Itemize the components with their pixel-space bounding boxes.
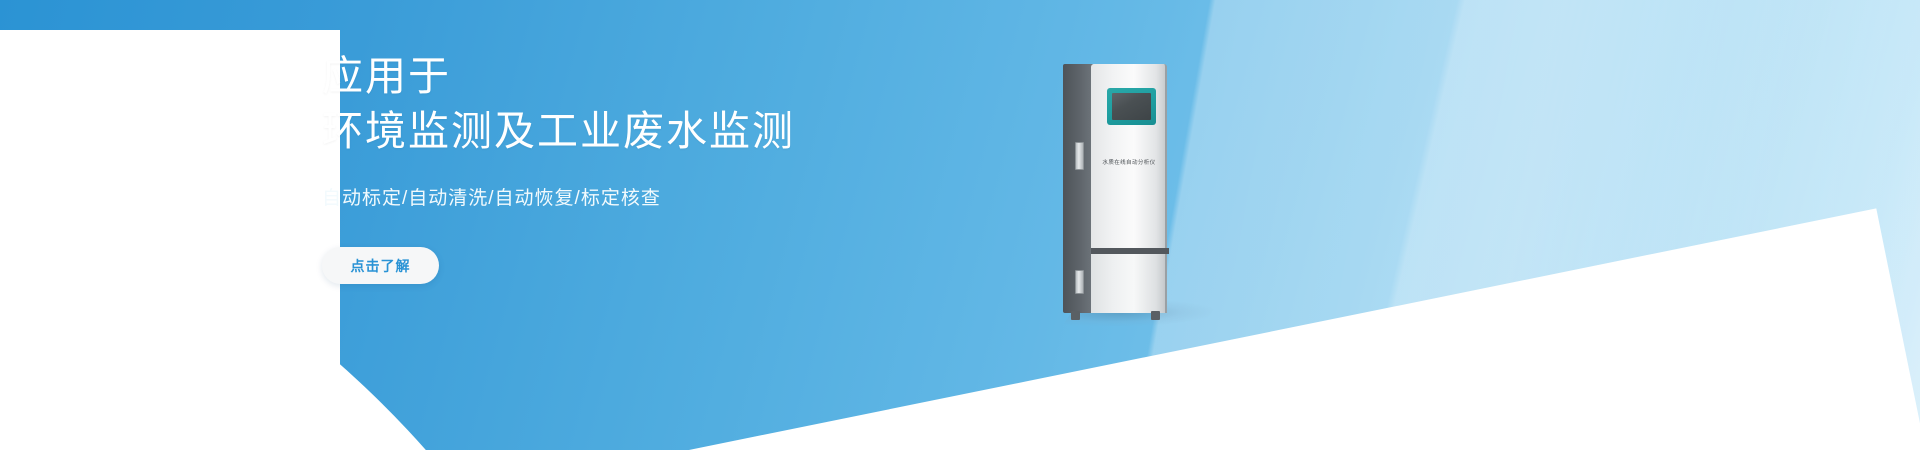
banner-white-curve-left-fill: [0, 30, 340, 450]
headline-line-2: 环境监测及工业废水监测: [322, 104, 1082, 159]
device-screen: [1112, 93, 1151, 120]
device-upper-door-handle: [1075, 142, 1084, 170]
banner-copy-block: 应用于 环境监测及工业废水监测 自动标定/自动清洗/自动恢复/标定核查 点击了解: [322, 49, 1082, 284]
device-lower-door-handle: [1075, 270, 1084, 294]
banner-headline: 应用于 环境监测及工业废水监测: [322, 49, 1082, 159]
learn-more-button[interactable]: 点击了解: [322, 247, 439, 284]
banner-subheadline: 自动标定/自动清洗/自动恢复/标定核查: [322, 185, 1082, 213]
device-panel-label: 水质在线自动分析仪: [1090, 158, 1168, 166]
device-caster-right: [1151, 311, 1160, 320]
headline-line-1: 应用于: [322, 49, 1082, 104]
water-quality-analyzer-image: 水质在线自动分析仪: [1063, 64, 1167, 313]
device-caster-left: [1071, 311, 1080, 320]
device-screen-bezel: [1107, 88, 1156, 125]
hero-banner: 应用于 环境监测及工业废水监测 自动标定/自动清洗/自动恢复/标定核查 点击了解…: [0, 0, 1920, 450]
device-lower-cabinet: [1091, 254, 1167, 313]
